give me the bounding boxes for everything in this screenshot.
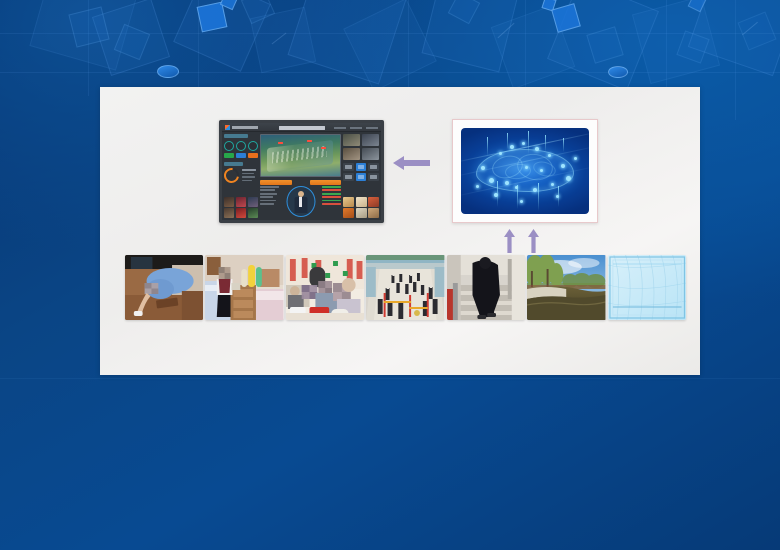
neural-node	[574, 157, 577, 160]
status-button-group	[224, 153, 258, 158]
decor-square	[676, 30, 709, 63]
map-marker	[278, 142, 283, 144]
decor-dot	[157, 65, 179, 78]
decor-square	[241, 0, 275, 24]
content-panel	[100, 87, 700, 375]
grid-line-h	[0, 33, 780, 34]
arrow-left-icon	[393, 155, 430, 171]
photo-stairway-walking[interactable]	[447, 255, 525, 320]
neural-node	[510, 145, 514, 149]
data-stream-line	[507, 133, 508, 148]
data-stream-line	[528, 131, 529, 153]
camera-feed-grid	[343, 134, 379, 160]
data-stream-line	[558, 186, 559, 207]
dashboard-right-column	[343, 134, 379, 218]
photo-blue-texture-panel[interactable]	[608, 255, 686, 320]
function-icon-active[interactable]	[356, 173, 367, 181]
center-stage	[260, 186, 341, 219]
camera-feed[interactable]	[343, 134, 360, 146]
dashboard-menu-item[interactable]	[334, 127, 346, 129]
grid-line-v	[735, 0, 736, 120]
orange-header-bar-group	[260, 180, 341, 185]
person-thumbnail[interactable]	[248, 208, 258, 218]
grid-line-h	[0, 378, 780, 379]
item-thumbnail[interactable]	[368, 197, 379, 207]
person-thumbnail[interactable]	[248, 197, 258, 207]
dashboard-center-column	[260, 134, 341, 218]
decor-streak	[497, 23, 514, 38]
status-button-blue[interactable]	[236, 153, 246, 158]
decor-square	[173, 0, 271, 72]
photo-park-lake-landscape[interactable]	[527, 255, 605, 320]
gauge-meter	[248, 141, 258, 151]
data-stream-line	[497, 181, 498, 207]
function-icon[interactable]	[343, 163, 354, 171]
function-icon[interactable]	[368, 163, 379, 171]
decor-square	[422, 0, 519, 72]
photo-activity-room-group[interactable]	[286, 255, 364, 320]
decor-square	[586, 26, 623, 63]
item-thumbnail[interactable]	[343, 208, 354, 218]
dashboard-header	[222, 123, 381, 132]
decor-streak	[742, 22, 758, 36]
neural-node	[520, 200, 523, 203]
brand-logo-icon	[225, 125, 230, 130]
data-stream-line	[538, 183, 539, 211]
decor-square	[343, 0, 437, 92]
decor-square	[250, 7, 316, 73]
decor-streak	[272, 33, 287, 45]
neural-node	[551, 183, 554, 186]
item-thumbnail[interactable]	[356, 197, 367, 207]
status-button-orange[interactable]	[248, 153, 258, 158]
item-thumbnail[interactable]	[356, 208, 367, 218]
slide-root	[0, 0, 780, 550]
decor-square	[68, 6, 109, 47]
data-stream-line	[563, 138, 564, 152]
decor-square	[737, 11, 776, 50]
brand-name-label	[232, 126, 258, 129]
map-marker	[321, 147, 326, 149]
data-stream-line	[545, 135, 546, 152]
person-thumbnail[interactable]	[224, 208, 234, 218]
gauge-group	[224, 141, 258, 151]
orange-header-bar	[260, 180, 292, 185]
gauge-meter	[236, 141, 246, 151]
left-data-rows	[260, 186, 279, 206]
item-thumbnail[interactable]	[343, 197, 354, 207]
decor-square	[491, 5, 576, 90]
person-thumbnail[interactable]	[224, 197, 234, 207]
section-label	[224, 162, 243, 166]
status-button-green[interactable]	[224, 153, 234, 158]
decor-square	[632, 0, 720, 84]
grid-line-v	[88, 0, 89, 96]
dashboard-title	[279, 126, 325, 130]
data-stream-line	[517, 185, 518, 209]
function-icon[interactable]	[343, 173, 354, 181]
decor-square	[688, 0, 780, 76]
ai-brain-image	[461, 128, 589, 214]
gauge-meter	[224, 141, 234, 151]
donut-chart	[221, 165, 242, 186]
donut-chart-block	[224, 168, 258, 183]
map-3d-view[interactable]	[260, 134, 341, 177]
section-label	[224, 134, 248, 138]
decor-dot	[608, 66, 628, 78]
decor-square	[29, 0, 140, 71]
left-thumbnail-grid	[224, 197, 258, 219]
dashboard-screen[interactable]	[219, 120, 384, 223]
neural-node	[522, 142, 525, 145]
camera-feed[interactable]	[362, 148, 379, 160]
function-icon-grid	[343, 163, 379, 181]
decor-square	[547, 0, 659, 91]
right-status-rows	[322, 186, 341, 206]
decor-square	[288, 0, 409, 84]
neural-node	[533, 188, 537, 192]
ai-brain-card[interactable]	[452, 119, 598, 223]
donut-legend	[242, 168, 258, 183]
grid-line-v	[525, 0, 526, 100]
dashboard-menu-item[interactable]	[366, 127, 378, 129]
dashboard-inner	[222, 123, 381, 220]
orange-header-bar	[310, 180, 342, 185]
arrow-up-icon	[528, 229, 539, 253]
decor-square	[92, 0, 170, 76]
photo-strip	[125, 255, 686, 320]
data-stream-line	[487, 137, 488, 156]
right-thumbnail-grid	[343, 197, 379, 219]
decor-square-bright	[197, 2, 228, 33]
photo-outdoor-plaza-crowd[interactable]	[366, 255, 444, 320]
person-thumbnail[interactable]	[236, 197, 246, 207]
camera-feed[interactable]	[362, 134, 379, 146]
neural-node	[561, 164, 565, 168]
decor-square	[114, 24, 150, 60]
neural-node	[476, 185, 479, 188]
neural-node	[525, 166, 528, 169]
photo-fall-detection-bedroom[interactable]	[125, 255, 203, 320]
decor-square	[448, 0, 480, 24]
person-thumbnail[interactable]	[236, 208, 246, 218]
function-icon-active[interactable]	[356, 163, 367, 171]
camera-feed[interactable]	[343, 148, 360, 160]
decor-square-bright	[220, 0, 238, 10]
grid-line-h	[0, 72, 780, 73]
map-marker	[307, 140, 312, 142]
photo-elderly-care-room[interactable]	[205, 255, 283, 320]
neural-node	[548, 154, 551, 157]
dashboard-menu-item[interactable]	[350, 127, 362, 129]
decor-square-bright	[688, 0, 707, 12]
decor-square-bright	[541, 0, 556, 12]
person-avatar-body	[294, 197, 307, 213]
dashboard-body	[222, 132, 381, 220]
item-thumbnail[interactable]	[368, 208, 379, 218]
decor-square-bright	[551, 3, 581, 33]
arrow-up-icon	[504, 229, 515, 253]
neural-node	[505, 181, 509, 185]
function-icon[interactable]	[368, 173, 379, 181]
